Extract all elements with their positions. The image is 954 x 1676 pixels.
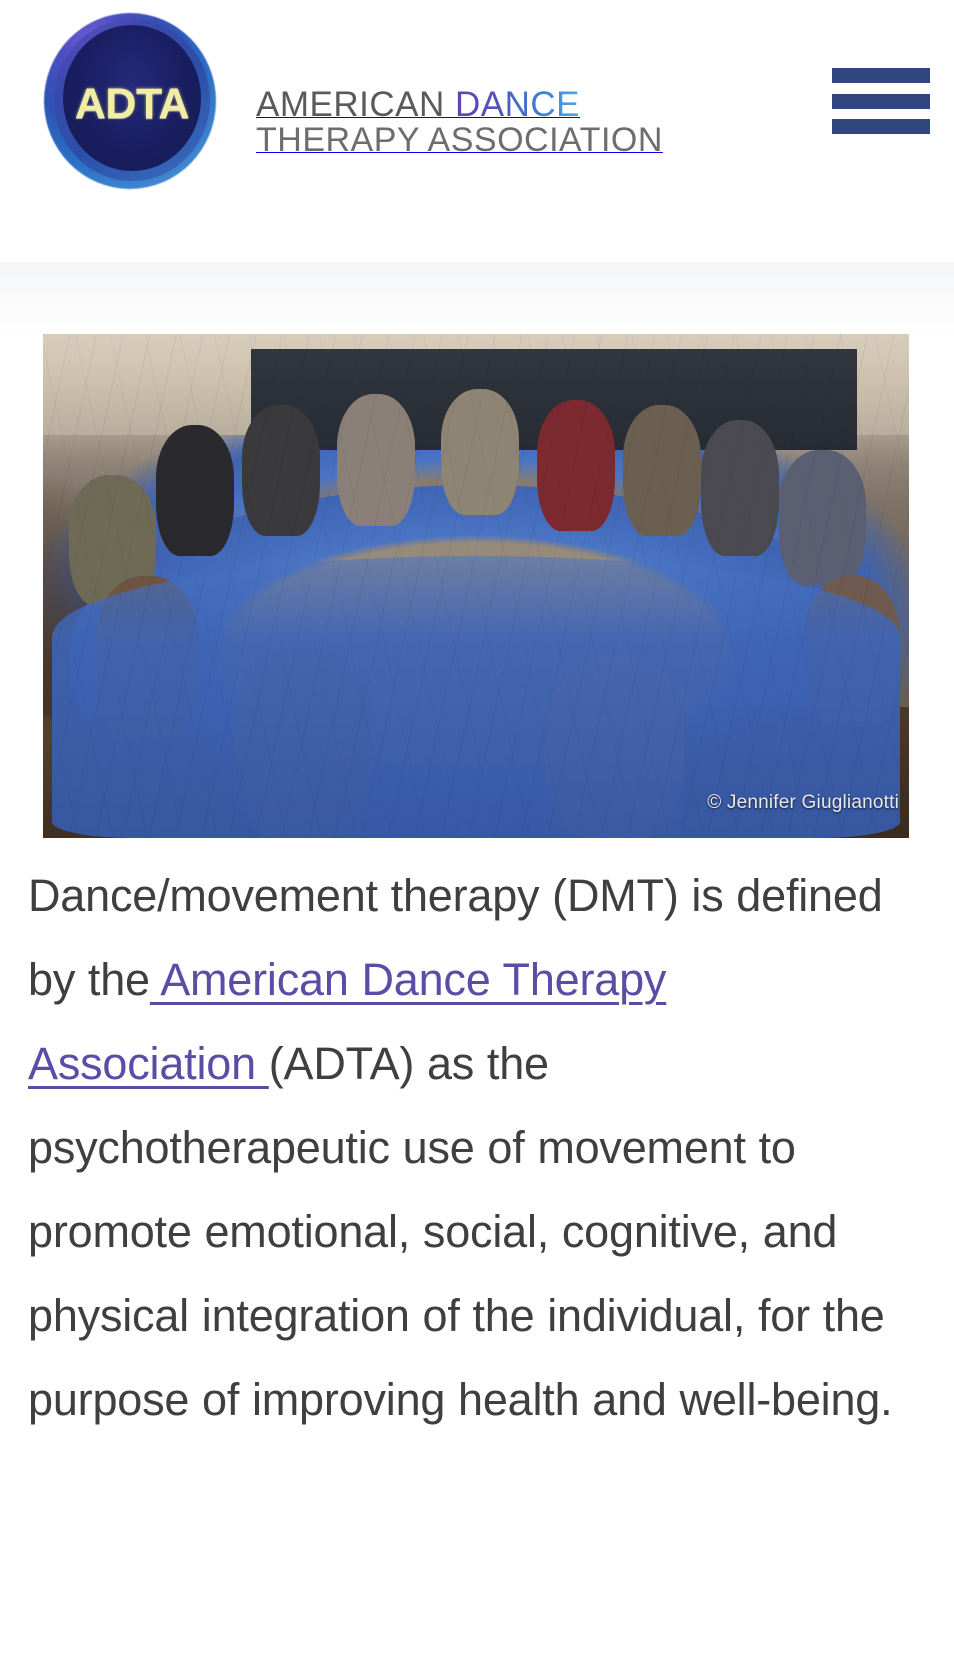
hero-photo-image: © Jennifer Giuglianotti: [43, 334, 909, 838]
wordmark-dance: DANCE: [455, 85, 580, 124]
article-paragraph: Dance/movement therapy (DMT) is defined …: [28, 854, 898, 1442]
wordmark-american: AMERICAN: [256, 85, 455, 124]
participant: [537, 400, 615, 531]
photo-credit-watermark: © Jennifer Giuglianotti: [707, 792, 899, 814]
hamburger-menu-icon[interactable]: [832, 68, 930, 134]
header-divider: [0, 262, 954, 334]
hamburger-bar-middle: [832, 94, 930, 109]
participant: [156, 425, 234, 556]
adta-circle-logo-icon: ADTA: [40, 7, 222, 189]
participant: [701, 420, 779, 556]
participant: [242, 405, 320, 536]
participant: [623, 405, 701, 536]
participant: [337, 394, 415, 525]
brand-logo-link[interactable]: ADTA AMERICAN DANCE THERAPY ASSOCIATION: [40, 8, 954, 188]
wordmark-line-1: AMERICAN DANCE: [256, 85, 580, 124]
paragraph-text-after-link: (ADTA) as the psychotherapeutic use of m…: [28, 1038, 892, 1425]
logo-badge-text: ADTA: [63, 31, 201, 177]
site-header: ADTA AMERICAN DANCE THERAPY ASSOCIATION: [0, 0, 954, 262]
page-root: ADTA AMERICAN DANCE THERAPY ASSOCIATION: [0, 0, 954, 1676]
article-body: Dance/movement therapy (DMT) is defined …: [28, 854, 898, 1442]
participant: [441, 389, 519, 515]
hamburger-bar-bottom: [832, 119, 930, 134]
participant: [779, 450, 866, 586]
hamburger-bar-top: [832, 68, 930, 83]
wordmark-line-2: THERAPY ASSOCIATION: [256, 121, 663, 159]
hero-photo: © Jennifer Giuglianotti: [43, 334, 909, 838]
